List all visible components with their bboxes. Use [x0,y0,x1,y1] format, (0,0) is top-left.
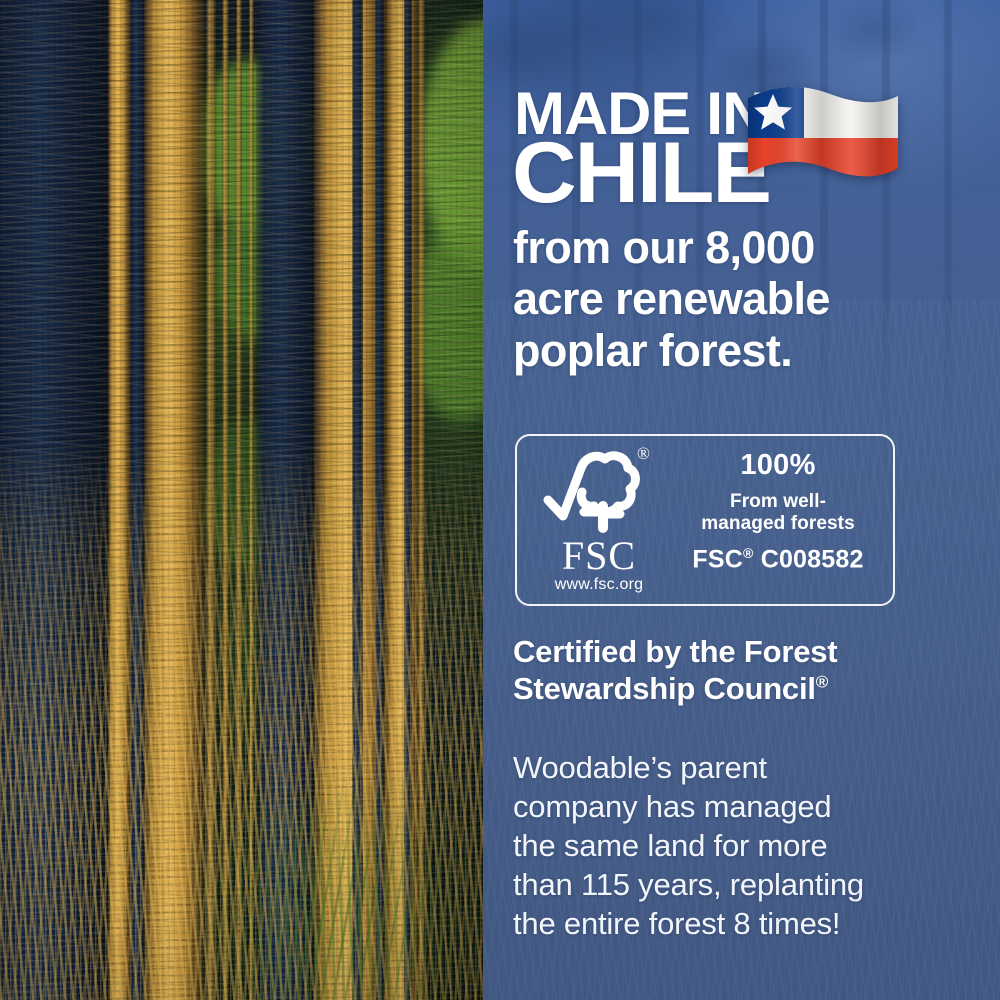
subheadline: from our 8,000 acre renewable poplar for… [513,222,933,376]
subheadline-line-1: from our 8,000 [513,222,933,273]
forest-photo [0,0,483,1000]
body-paragraph-line-5: the entire forest 8 times! [513,904,953,943]
body-paragraph-line-4: than 115 years, replanting [513,865,953,904]
certified-registered-icon: ® [816,673,828,692]
body-paragraph: Woodable’s parent company has managed th… [513,748,953,943]
fsc-certification-box: ® FSC www.fsc.org 100% From well- manage… [515,434,895,606]
fsc-registered-icon: ® [637,444,650,464]
infographic-canvas: MADE IN CHILE [0,0,1000,1000]
body-paragraph-line-2: company has managed [513,787,953,826]
fsc-tree-checkmark-icon [541,448,646,540]
fsc-logo: ® FSC www.fsc.org [531,444,661,602]
fsc-percent: 100% [667,450,889,482]
certified-heading: Certified by the Forest Stewardship Coun… [513,633,943,707]
fsc-description-line-1: From well- [667,491,889,513]
body-paragraph-line-3: the same land for more [513,826,953,865]
fsc-code-number: C008582 [761,546,864,574]
fsc-description-line-2: managed forests [667,513,889,535]
fsc-claim: 100% From well- managed forests FSC® C00… [667,446,889,574]
certified-line-1: Certified by the Forest [513,633,943,670]
fsc-license-code: FSC® C008582 [667,546,889,574]
fsc-code-prefix: FSC [692,546,743,574]
certified-line-2-text: Stewardship Council [513,671,816,706]
certified-line-2: Stewardship Council® [513,670,943,707]
fsc-url: www.fsc.org [535,576,663,594]
subheadline-line-3: poplar forest. [513,325,933,376]
fsc-description: From well- managed forests [667,491,889,535]
panel-content: MADE IN CHILE [483,0,1000,1000]
body-paragraph-line-1: Woodable’s parent [513,748,953,787]
fsc-code-registered-icon: ® [743,545,754,561]
subheadline-line-2: acre renewable [513,273,933,324]
chile-flag-icon [742,82,902,207]
fsc-wordmark: FSC [539,536,659,576]
headline-chile: CHILE [512,135,770,212]
photo-vignette [0,0,483,1000]
info-panel: MADE IN CHILE [483,0,1000,1000]
